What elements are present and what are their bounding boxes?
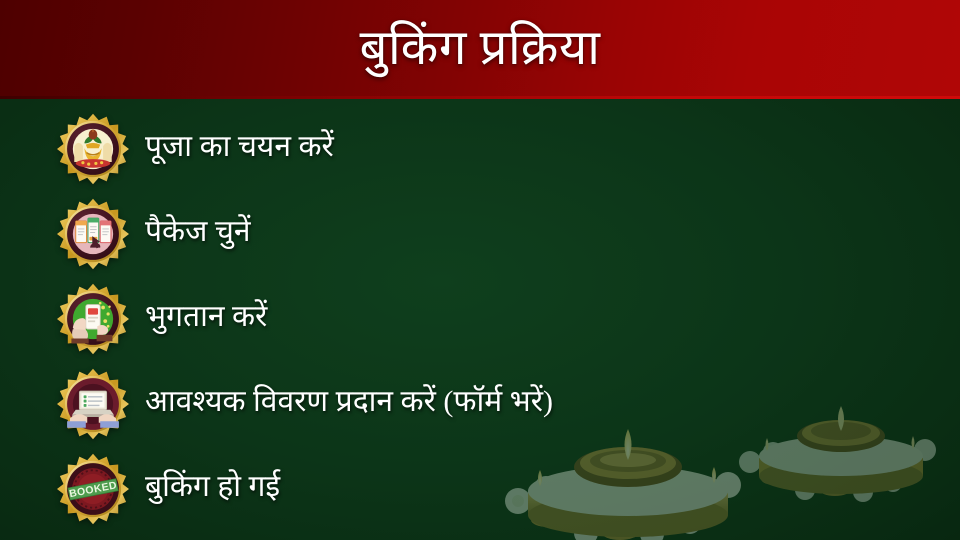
page-title: बुकिंग प्रक्रिया <box>360 23 601 76</box>
step-row-4[interactable]: आवश्यक विवरण प्रदान करें (फॉर्म भरें) <box>0 361 960 446</box>
kalash-pooja-icon <box>57 113 129 185</box>
mobile-payment-icon <box>57 283 129 355</box>
step-row-3[interactable]: भुगतान करें <box>0 276 960 361</box>
step-row-1[interactable]: पूजा का चयन करें <box>0 106 960 191</box>
package-cards-cursor-icon <box>57 198 129 270</box>
step-label-4: आवश्यक विवरण प्रदान करें (फॉर्म भरें) <box>145 386 553 421</box>
step-row-5[interactable]: BOOKED बुकिंग हो गई <box>0 446 960 531</box>
step-label-3: भुगतान करें <box>145 301 267 336</box>
laptop-form-icon <box>57 368 129 440</box>
step-label-2: पैकेज चुनें <box>145 216 251 251</box>
header-banner: बुकिंग प्रक्रिया <box>0 0 960 99</box>
step-label-1: पूजा का चयन करें <box>145 131 334 166</box>
booking-steps-list: पूजा का चयन करें <box>0 99 960 540</box>
step-label-5: बुकिंग हो गई <box>145 471 280 506</box>
step-row-2[interactable]: पैकेज चुनें <box>0 191 960 276</box>
booked-stamp-icon: BOOKED <box>57 453 129 525</box>
slide-canvas: बुकिंग प्रक्रिया <box>0 0 960 540</box>
